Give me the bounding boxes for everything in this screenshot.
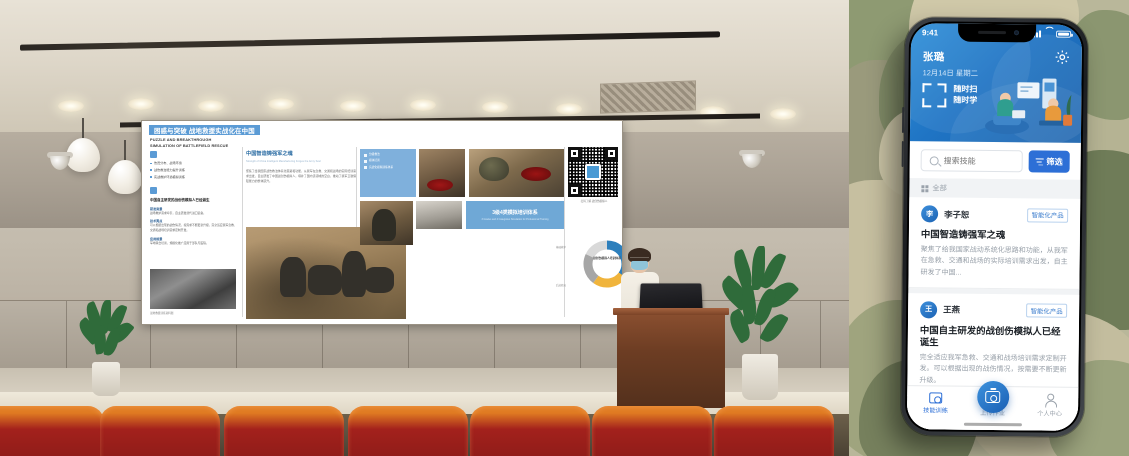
gear-icon[interactable]	[1054, 49, 1071, 66]
section-marker-icon	[150, 151, 157, 158]
scan-line2: 随时学	[953, 96, 977, 107]
scan-text: 随时扫 随时学	[953, 85, 977, 107]
filter-label: 筛选	[1046, 156, 1063, 168]
slide-feature-item: 实战化模拟训练体系	[364, 166, 412, 170]
potted-plant	[80, 300, 132, 396]
status-badge: 智能化产品	[1027, 208, 1068, 222]
slide-left-body3: 军地联合培训，规模化推广应用于部队与医院。	[150, 241, 238, 246]
search-input[interactable]	[921, 149, 1023, 172]
slide-bullet: 伤员分布、战场环境	[150, 161, 238, 166]
downlight	[410, 99, 436, 111]
phone-screen: 9:41 张璐 12月14日	[907, 23, 1082, 431]
chair	[224, 406, 344, 456]
downlight	[482, 101, 508, 113]
potted-plant	[726, 250, 792, 400]
phone-notch	[957, 24, 1035, 43]
slide-banner: 3级4类模拟培训体系 3 Grades and 4 Categories Sim…	[466, 201, 564, 229]
section-marker-icon	[150, 187, 157, 194]
slide-feature-box: 分级救治 模块培训 实战化模拟训练体系	[360, 149, 416, 197]
scan-entry[interactable]: 随时扫 随时学	[922, 83, 977, 108]
chair	[714, 406, 834, 456]
ceiling	[0, 0, 849, 132]
scan-line1: 随时扫	[953, 85, 977, 96]
column-divider	[242, 147, 243, 317]
search-field[interactable]	[944, 156, 1014, 166]
slide-feature-item: 模块培训	[364, 159, 412, 163]
tab-training[interactable]: 技能训练	[907, 392, 964, 415]
chair	[0, 406, 104, 456]
section-label-row: 全部	[909, 178, 1080, 199]
slide-middle-title-en: Strength of China Intelligent Manufactur…	[246, 160, 356, 164]
tab-profile[interactable]: 个人中心	[1021, 393, 1078, 418]
presentation-screen: 困惑与突破 战地救援实战化在中国 PUZZLE AND BREAKTHROUGH…	[141, 120, 623, 325]
card-author: 李子恕	[944, 208, 969, 220]
chair	[348, 406, 468, 456]
filter-icon	[1035, 157, 1043, 165]
status-badge: 智能化产品	[1026, 304, 1067, 318]
dome-camera-icon	[739, 150, 765, 170]
home-indicator	[963, 423, 1021, 427]
slide-left-column: 伤员分布、战场环境 战伤救治能力提升训练 实战救护环境模拟训练 中国自主研发的战…	[150, 151, 238, 245]
slide-historical-photo	[150, 269, 236, 309]
section-label: 全部	[932, 183, 946, 193]
slide-banner-subtitle: 3 Grades and 4 Categories Simulation for…	[482, 218, 549, 221]
slide-photo-caption: 战地救援训练资料图	[150, 311, 173, 315]
slide-feature-item: 分级救治	[364, 153, 412, 157]
slide-title: 困惑与突破 战地救援实战化在中国	[154, 126, 255, 135]
column-divider	[564, 147, 565, 317]
battery-icon	[1056, 31, 1071, 38]
tab-label: 技能训练	[923, 405, 948, 414]
qr-code-icon	[568, 147, 618, 197]
donut-legend-label: 基础救护	[556, 245, 566, 249]
slide-content: 困惑与突破 战地救援实战化在中国 PUZZLE AND BREAKTHROUGH…	[142, 121, 622, 324]
card-header: 王 王燕 智能化产品	[920, 301, 1067, 320]
slide-left-body2: 可以根据出现的战伤情况，按需求不断更新升级，完全适应我军急救、交通和战场培训需求…	[150, 223, 238, 232]
donut-chart-svg	[580, 237, 623, 291]
avatar: 王	[920, 301, 937, 318]
slide-photo-casualty-2	[469, 149, 564, 197]
slide-middle-column: 中国智造铸强军之魂 Strength of China Intelligent …	[246, 151, 356, 184]
earpiece-speaker	[978, 31, 1006, 34]
slide-banner-title: 3级4类模拟培训体系	[492, 209, 538, 216]
chair	[470, 406, 590, 456]
search-icon	[930, 156, 939, 165]
slide-bullet: 战伤救治能力提升训练	[150, 168, 238, 173]
donut-legend-label: 后送转运	[556, 283, 566, 287]
ceiling-light-slot	[20, 31, 720, 50]
card-description: 聚焦了给我国家战动系统化思路和功能，从我军在急救、交通和战场的实际培训需求出发，…	[920, 244, 1067, 279]
scan-frame-icon	[922, 83, 946, 107]
downlight	[58, 100, 84, 112]
chair	[100, 406, 220, 456]
card-header: 李 李子恕 智能化产品	[921, 205, 1068, 224]
slide-bullet: 实战救护环境模拟训练	[150, 175, 238, 180]
user-icon	[1043, 394, 1056, 407]
dome-camera-icon	[47, 152, 73, 172]
laptop	[639, 283, 702, 311]
grid-icon	[921, 185, 928, 192]
card-author: 王燕	[943, 304, 960, 316]
slide-middle-body: 聚焦了给我国家战伤救治体系化思路和功能，从我军在急救、交通和战场的实际培训需求出…	[246, 169, 356, 184]
user-name: 张璐	[923, 49, 1070, 66]
camera-outline-icon	[929, 392, 942, 403]
slide-photo-casualty-1	[419, 149, 465, 197]
filter-button[interactable]: 筛选	[1028, 150, 1070, 172]
downlight	[268, 98, 294, 110]
volume-down-button[interactable]	[902, 141, 904, 167]
phone-mockup: 9:41 张璐 12月14日	[901, 17, 1088, 437]
slide-subtitle: PUZZLE AND BREAKTHROUGH SIMULATION OF BA…	[150, 137, 330, 149]
downlight	[128, 98, 154, 110]
donut-center-label: 战创伤模拟人培训体系	[593, 257, 621, 261]
ceiling-vent	[600, 80, 696, 113]
avatar: 李	[921, 205, 938, 222]
slide-photo-training-1	[360, 201, 413, 245]
slide-left-heading: 中国自主研发的战创伤模拟人已经诞生	[150, 198, 238, 203]
card-title: 中国自主研发的战创伤模拟人已经诞生	[920, 324, 1067, 350]
audience-chairs	[0, 406, 849, 456]
qr-caption: 扫码了解 战创伤模拟人	[568, 199, 620, 203]
list-item[interactable]: 李 李子恕 智能化产品 中国智造铸强军之魂 聚焦了给我国家战动系统化思路和功能，…	[908, 197, 1080, 290]
screenshot-stage: 困惑与突破 战地救援实战化在中国 PUZZLE AND BREAKTHROUGH…	[0, 0, 1129, 456]
downlight	[556, 103, 582, 115]
header-illustration	[983, 76, 1076, 139]
front-camera-icon	[1014, 30, 1019, 35]
slide-subtitle-line2: SIMULATION OF BATTLEFIELD RESCUE	[150, 143, 330, 149]
chair	[592, 406, 712, 456]
slide-photo-training-2	[416, 201, 462, 229]
slide-middle-title: 中国智造铸强军之魂	[246, 151, 356, 158]
search-row: 筛选	[910, 141, 1081, 180]
camera-icon	[985, 391, 1000, 403]
slide-left-body1: 战场救护需求牵引，自主研发替代进口装备。	[150, 211, 238, 216]
slide-title-bar: 困惑与突破 战地救援实战化在中国	[149, 125, 260, 135]
qr-center-logo	[585, 164, 601, 180]
face-mask	[631, 261, 648, 270]
slide-qr-block: 扫码了解 战创伤模拟人	[568, 147, 620, 203]
podium	[617, 310, 725, 408]
pendant-lamp	[108, 140, 142, 194]
volume-up-button[interactable]	[902, 107, 904, 133]
conference-room-photo: 困惑与突破 战地救援实战化在中国 PUZZLE AND BREAKTHROUGH…	[0, 0, 849, 456]
downlight	[770, 108, 796, 120]
status-time: 9:41	[922, 28, 938, 37]
wifi-icon	[1044, 31, 1053, 38]
card-title: 中国智造铸强军之魂	[921, 228, 1068, 242]
downlight	[340, 100, 366, 112]
camera-fab-button[interactable]	[977, 381, 1009, 413]
slide-donut-chart: 战创伤模拟人培训体系	[580, 237, 623, 291]
downlight	[198, 100, 224, 112]
tab-label: 个人中心	[1037, 408, 1062, 417]
